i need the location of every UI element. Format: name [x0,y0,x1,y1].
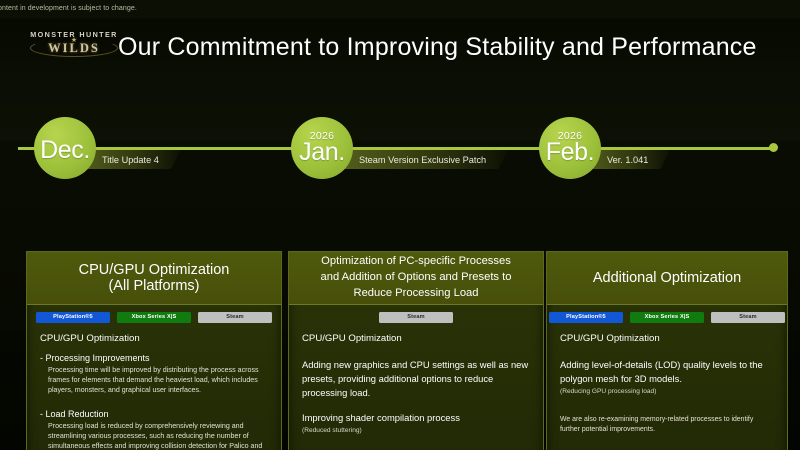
panel-3-header: Additional Optimization [547,252,787,305]
page-title: Our Commitment to Improving Stability an… [118,25,757,69]
panel-1-item-1: - Processing Improvements Processing tim… [40,353,268,395]
panel-1-item-2-body: Processing load is reduced by comprehens… [40,421,268,450]
panel-1-header: CPU/GPU Optimization (All Platforms) [27,252,281,305]
panel-1-item-1-head: - Processing Improvements [40,353,268,363]
badge-steam: Steam [711,312,785,323]
panel-2-header: Optimization of PC-specific Processes an… [289,252,543,305]
panels-row: CPU/GPU Optimization (All Platforms) Pla… [0,251,800,450]
panel-3-item-2: We are also re-examining memory-related … [560,415,774,435]
panel-2-item-3: VRAM Usage Improvements [302,447,530,450]
panel-1-badges: PlayStation®5 Xbox Series X|S Steam [27,305,281,329]
timeline-circle-jan: 2026 Jan. [291,117,353,179]
timeline-month-jan: Jan. [299,140,345,165]
panel-1-item-2-head: - Load Reduction [40,409,268,419]
panel-1-title-line1: CPU/GPU Optimization [79,262,230,278]
timeline-label-jan: Steam Version Exclusive Patch [335,150,508,169]
panel-2-title-line3: Reduce Processing Load [321,286,512,302]
panel-1-section-title: CPU/GPU Optimization [40,333,268,344]
timeline-track [18,147,774,150]
panel-3-section-title: CPU/GPU Optimization [560,333,774,344]
panel-1-item-1-body: Processing time will be improved by dist… [40,365,268,395]
timeline-circle-feb: 2026 Feb. [539,117,601,179]
panel-cpu-gpu-optimization: CPU/GPU Optimization (All Platforms) Pla… [26,251,282,450]
crown-icon: ★ [71,37,77,44]
panel-3-title-line1: Additional Optimization [593,270,741,286]
panel-3-item-1-note: (Reducing GPU processing load) [560,387,774,396]
panel-additional-optimization: Additional Optimization PlayStation®5 Xb… [546,251,788,450]
panel-2-badges: Steam [289,305,543,329]
panel-3-body: CPU/GPU Optimization Adding level-of-det… [547,329,787,450]
panel-1-body: CPU/GPU Optimization - Processing Improv… [27,329,281,450]
timeline-end-dot-icon [769,143,778,152]
panel-1-item-2: - Load Reduction Processing load is redu… [40,409,268,450]
disclaimer-text: *Content in development is subject to ch… [0,5,790,12]
panel-2-body: CPU/GPU Optimization Adding new graphics… [289,329,543,450]
panel-3-badges: PlayStation®5 Xbox Series X|S Steam [547,305,787,329]
panel-2-item-1: Adding new graphics and CPU settings as … [302,358,530,400]
badge-steam: Steam [198,312,272,323]
badge-xbox-series: Xbox Series X|S [117,312,191,323]
timeline-month-dec: Dec. [40,138,90,163]
panel-1-title-line2: (All Platforms) [79,278,230,294]
panel-3-item-1: Adding level-of-details (LOD) quality le… [560,358,774,386]
logo-wilds-wrap: ★ WILDS [22,40,126,55]
timeline-circle-dec: Dec. [34,117,96,179]
panel-2-title-line1: Optimization of PC-specific Processes [321,254,512,270]
monster-hunter-wilds-logo: MONSTER HUNTER ★ WILDS [22,31,126,55]
slide-header: MONSTER HUNTER ★ WILDS Our Commitment to… [0,25,800,69]
slide-root: *Content in development is subject to ch… [0,0,800,450]
panel-pc-specific-optimization: Optimization of PC-specific Processes an… [288,251,544,450]
panel-2-item-2-note: (Reduced stuttering) [302,426,530,435]
badge-playstation5: PlayStation®5 [549,312,623,323]
panel-2-section-title: CPU/GPU Optimization [302,333,530,344]
timeline-month-feb: Feb. [546,140,594,165]
timeline: Title Update 4 Dec. Steam Version Exclus… [0,117,800,179]
badge-steam: Steam [379,312,453,323]
badge-xbox-series: Xbox Series X|S [630,312,704,323]
panel-2-item-2: Improving shader compilation process [302,411,530,425]
panel-2-title-line2: and Addition of Options and Presets to [321,270,512,286]
badge-playstation5: PlayStation®5 [36,312,110,323]
